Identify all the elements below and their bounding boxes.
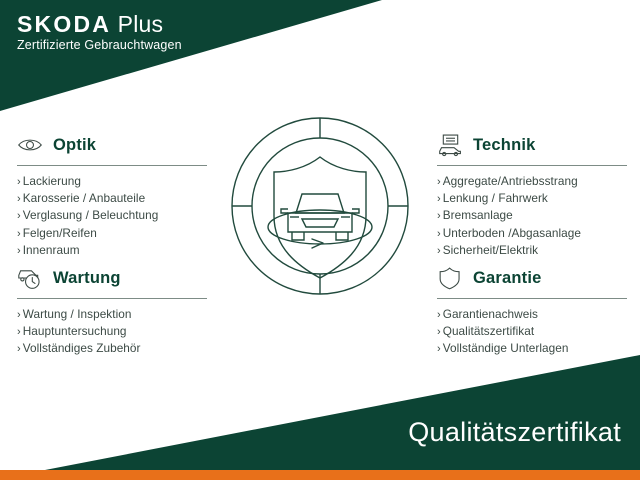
section-technik-header: Technik bbox=[437, 130, 637, 160]
list-item: ›Sicherheit/Elektrik bbox=[437, 242, 637, 259]
footer-title: Qualitätszertifikat bbox=[408, 417, 621, 448]
section-wartung-title: Wartung bbox=[53, 269, 121, 288]
list-item-label: Lenkung / Fahrwerk bbox=[443, 191, 548, 205]
brand-name-secondary: Plus bbox=[118, 11, 164, 37]
chevron-right-icon: › bbox=[437, 228, 441, 240]
chevron-right-icon: › bbox=[17, 176, 21, 188]
list-item-label: Aggregate/Antriebsstrang bbox=[443, 174, 578, 188]
list-item: ›Lenkung / Fahrwerk bbox=[437, 190, 637, 207]
brand-lockup: SKODA Plus Zertifizierte Gebrauchtwagen bbox=[17, 12, 182, 52]
list-item-label: Hauptuntersuchung bbox=[23, 324, 127, 338]
section-garantie: Garantie ›Garantienachweis ›Qualitätszer… bbox=[437, 263, 637, 358]
section-garantie-list: ›Garantienachweis ›Qualitätszertifikat ›… bbox=[437, 306, 637, 358]
car-lift-document-icon bbox=[437, 131, 467, 159]
chevron-right-icon: › bbox=[17, 210, 21, 222]
section-garantie-divider bbox=[437, 298, 627, 299]
chevron-right-icon: › bbox=[437, 193, 441, 205]
section-technik-divider bbox=[437, 165, 627, 166]
list-item-label: Karosserie / Anbauteile bbox=[23, 191, 145, 205]
shield-icon bbox=[437, 264, 467, 292]
section-garantie-title: Garantie bbox=[473, 269, 542, 288]
list-item: ›Felgen/Reifen bbox=[17, 225, 217, 242]
brand-name-primary: SKODA bbox=[17, 11, 111, 37]
section-optik-title: Optik bbox=[53, 136, 96, 155]
chevron-right-icon: › bbox=[437, 210, 441, 222]
brand-name: SKODA Plus bbox=[17, 12, 182, 36]
quality-seal-emblem bbox=[226, 112, 414, 300]
list-item-label: Verglasung / Beleuchtung bbox=[23, 208, 159, 222]
section-optik: Optik ›Lackierung ›Karosserie / Anbautei… bbox=[17, 130, 217, 259]
chevron-right-icon: › bbox=[17, 309, 21, 321]
section-garantie-header: Garantie bbox=[437, 263, 637, 293]
section-optik-divider bbox=[17, 165, 207, 166]
list-item: ›Vollständige Unterlagen bbox=[437, 340, 637, 357]
chevron-right-icon: › bbox=[437, 309, 441, 321]
chevron-right-icon: › bbox=[17, 343, 21, 355]
list-item: ›Unterboden /Abgasanlage bbox=[437, 225, 637, 242]
list-item: ›Verglasung / Beleuchtung bbox=[17, 207, 217, 224]
section-optik-header: Optik bbox=[17, 130, 217, 160]
chevron-right-icon: › bbox=[437, 245, 441, 257]
chevron-right-icon: › bbox=[437, 326, 441, 338]
section-optik-list: ›Lackierung ›Karosserie / Anbauteile ›Ve… bbox=[17, 173, 217, 259]
chevron-right-icon: › bbox=[437, 176, 441, 188]
chevron-right-icon: › bbox=[17, 228, 21, 240]
list-item-label: Unterboden /Abgasanlage bbox=[443, 226, 581, 240]
list-item: ›Bremsanlage bbox=[437, 207, 637, 224]
list-item-label: Sicherheit/Elektrik bbox=[443, 243, 538, 257]
section-wartung-list: ›Wartung / Inspektion ›Hauptuntersuchung… bbox=[17, 306, 217, 358]
chevron-right-icon: › bbox=[437, 343, 441, 355]
list-item-label: Felgen/Reifen bbox=[23, 226, 97, 240]
chevron-right-icon: › bbox=[17, 245, 21, 257]
section-technik: Technik ›Aggregate/Antriebsstrang ›Lenku… bbox=[437, 130, 637, 259]
chevron-right-icon: › bbox=[17, 193, 21, 205]
eye-icon bbox=[17, 131, 47, 159]
list-item-label: Innenraum bbox=[23, 243, 80, 257]
list-item: ›Garantienachweis bbox=[437, 306, 637, 323]
list-item: ›Wartung / Inspektion bbox=[17, 306, 217, 323]
list-item-label: Qualitätszertifikat bbox=[443, 324, 534, 338]
certificate-page: SKODA Plus Zertifizierte Gebrauchtwagen bbox=[0, 0, 640, 480]
list-item: ›Vollständiges Zubehör bbox=[17, 340, 217, 357]
section-technik-title: Technik bbox=[473, 136, 536, 155]
list-item-label: Vollständiges Zubehör bbox=[23, 341, 141, 355]
list-item-label: Wartung / Inspektion bbox=[23, 307, 132, 321]
list-item: ›Hauptuntersuchung bbox=[17, 323, 217, 340]
list-item: ›Lackierung bbox=[17, 173, 217, 190]
section-wartung-header: Wartung bbox=[17, 263, 217, 293]
brand-tagline: Zertifizierte Gebrauchtwagen bbox=[17, 38, 182, 52]
list-item-label: Vollständige Unterlagen bbox=[443, 341, 569, 355]
car-service-clock-icon bbox=[17, 264, 47, 292]
list-item: ›Karosserie / Anbauteile bbox=[17, 190, 217, 207]
list-item-label: Garantienachweis bbox=[443, 307, 538, 321]
orange-accent-bar bbox=[0, 470, 640, 480]
list-item: ›Innenraum bbox=[17, 242, 217, 259]
section-wartung: Wartung ›Wartung / Inspektion ›Hauptunte… bbox=[17, 263, 217, 358]
list-item-label: Lackierung bbox=[23, 174, 81, 188]
list-item-label: Bremsanlage bbox=[443, 208, 513, 222]
list-item: ›Qualitätszertifikat bbox=[437, 323, 637, 340]
footer-band bbox=[0, 355, 640, 470]
section-wartung-divider bbox=[17, 298, 207, 299]
chevron-right-icon: › bbox=[17, 326, 21, 338]
section-technik-list: ›Aggregate/Antriebsstrang ›Lenkung / Fah… bbox=[437, 173, 637, 259]
list-item: ›Aggregate/Antriebsstrang bbox=[437, 173, 637, 190]
